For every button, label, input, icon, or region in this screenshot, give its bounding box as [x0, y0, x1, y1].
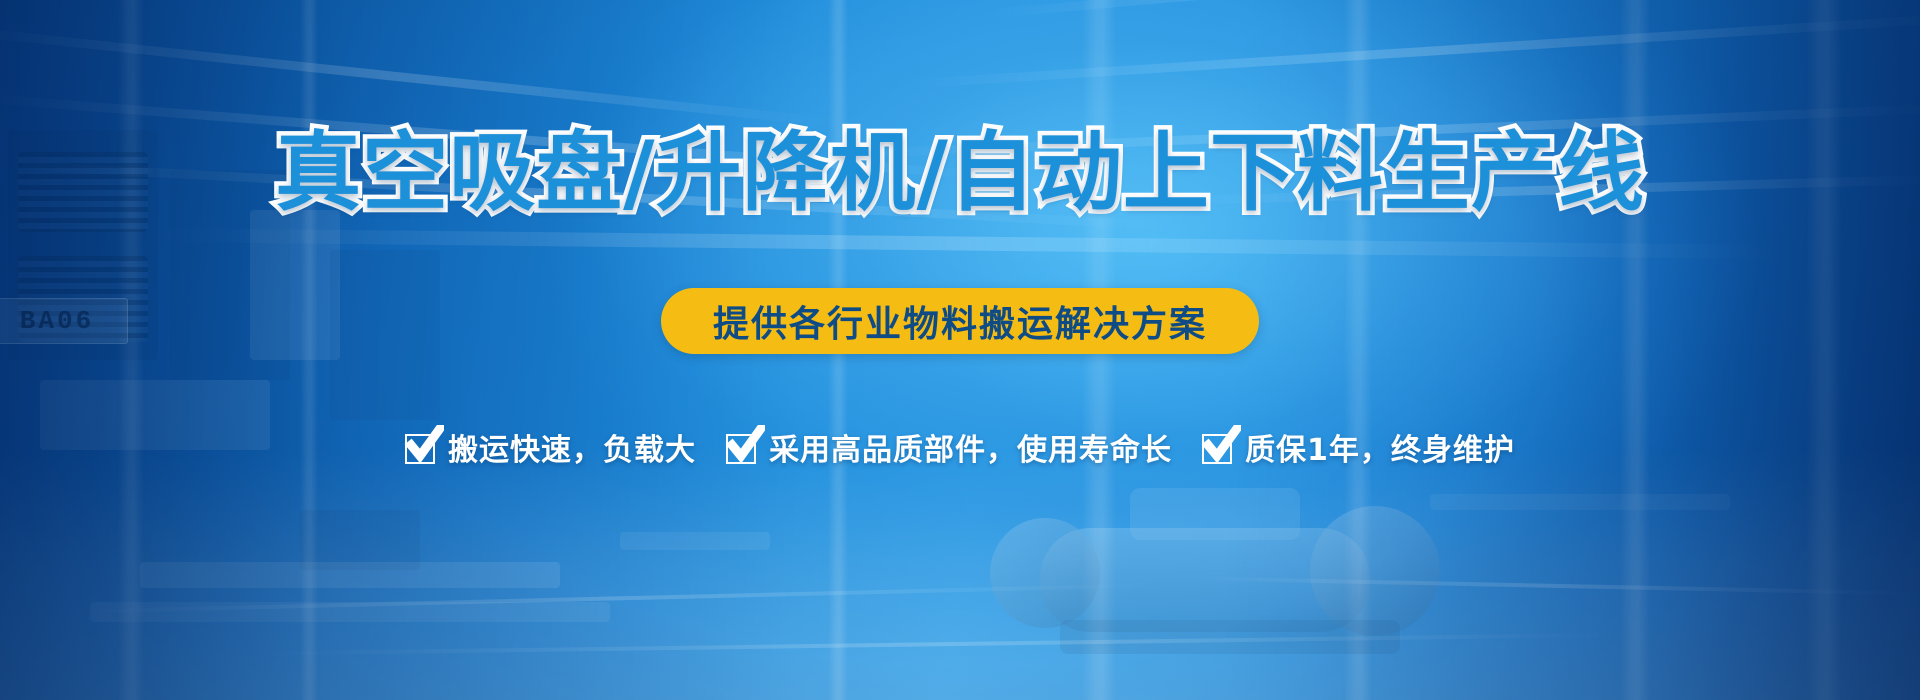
banner-content: 真空吸盘/升降机/自动上下料生产线 提供各行业物料搬运解决方案 搬运快速，负载大	[0, 0, 1920, 700]
feature-item: 搬运快速，负载大	[405, 425, 696, 469]
feature-label: 采用高品质部件，使用寿命长	[769, 425, 1172, 469]
feature-label: 质保1年，终身维护	[1245, 425, 1515, 469]
checkbox-check-icon	[405, 430, 439, 464]
feature-label: 搬运快速，负载大	[448, 425, 696, 469]
hero-banner: BA06 真空吸盘/升降机/自动上下料生产线 提供各行业	[0, 0, 1920, 700]
tagline-pill: 提供各行业物料搬运解决方案	[661, 288, 1259, 354]
feature-item: 质保1年，终身维护	[1202, 425, 1515, 469]
banner-headline: 真空吸盘/升降机/自动上下料生产线	[0, 130, 1920, 216]
feature-list: 搬运快速，负载大 采用高品质部件，使用寿命长 质保1	[0, 425, 1920, 469]
feature-item: 采用高品质部件，使用寿命长	[726, 425, 1172, 469]
tagline-text: 提供各行业物料搬运解决方案	[713, 295, 1207, 347]
checkbox-check-icon	[1202, 430, 1236, 464]
checkbox-check-icon	[726, 430, 760, 464]
